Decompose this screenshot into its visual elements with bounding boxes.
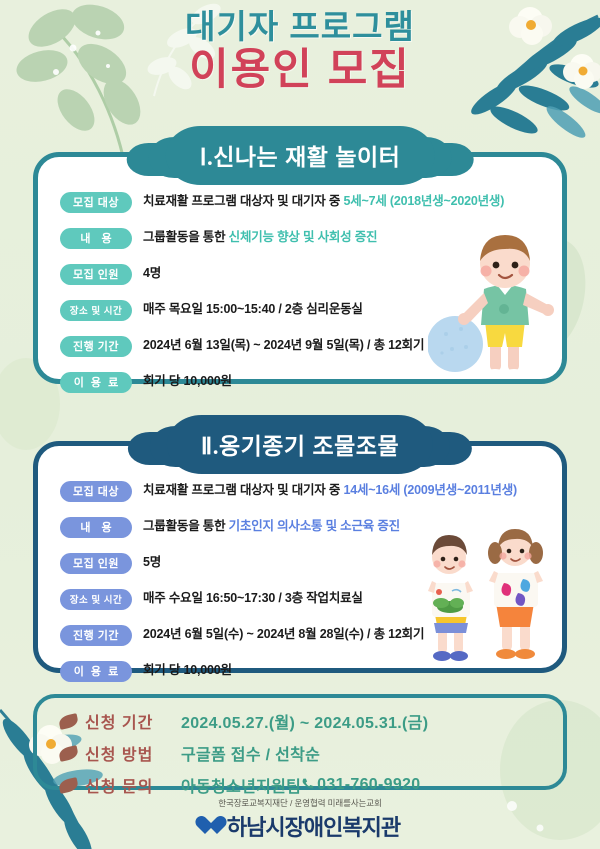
program-2-rows: 모집 대상 치료재활 프로그램 대상자 및 대기자 중 14세~16세 (200… (38, 446, 562, 704)
poster-header: 대기자 프로그램 이용인 모집 (0, 0, 600, 118)
title-line-2: 이용인 모집 (0, 47, 600, 94)
table-row: 장소 및 시간 매주 수요일 16:50~17:30 / 3층 작업치료실 (60, 588, 544, 610)
apply-value: 아동청소년지원팀 (181, 773, 301, 797)
table-row: 이 용 료 회기 당 10,000원 (60, 371, 544, 393)
row-value: 5명 (143, 555, 161, 571)
row-value: 2024년 6월 13일(목) ~ 2024년 9월 5일(목) / 총 12회… (143, 338, 424, 354)
leaf-icon (58, 713, 79, 730)
row-value: 치료재활 프로그램 대상자 및 대기자 중 5세~7세 (2018년생~2020… (143, 194, 504, 210)
table-row: 진행 기간 2024년 6월 13일(목) ~ 2024년 9월 5일(목) /… (60, 335, 544, 357)
application-info-panel: 신청 기간 2024.05.27.(월) ~ 2024.05.31.(금) 신청… (33, 694, 567, 790)
leaf-icon (58, 777, 79, 794)
table-row: 진행 기간 2024년 6월 5일(수) ~ 2024년 8월 28일(수) /… (60, 624, 544, 646)
table-row: 내 용 그룹활동을 통한 기초인지 의사소통 및 소근육 증진 (60, 516, 544, 538)
row-label: 장소 및 시간 (60, 589, 132, 610)
table-row: 내 용 그룹활동을 통한 신체기능 향상 및 사회성 증진 (60, 227, 544, 249)
apply-value: 구글폼 접수 / 선착순 (181, 741, 320, 765)
program-card-1: Ⅰ.신나는 재활 놀이터 (33, 152, 567, 384)
row-label: 모집 인원 (60, 264, 132, 285)
row-value: 그룹활동을 통한 기초인지 의사소통 및 소근육 증진 (143, 519, 400, 535)
organization-name-row: 하남시장애인복지관 (200, 810, 400, 842)
row-value: 회기 당 10,000원 (143, 663, 232, 679)
partner-organizations: 한국장로교복지재단 / 운영협력 미래를사는교회 (0, 797, 600, 809)
title-line-1: 대기자 프로그램 (0, 8, 600, 47)
apply-label: 신청 문의 (85, 773, 181, 797)
phone-icon (301, 777, 314, 790)
apply-row-method: 신청 방법 구글폼 접수 / 선착순 (59, 741, 563, 765)
row-label: 진행 기간 (60, 625, 132, 646)
poster-root: 대기자 프로그램 이용인 모집 Ⅰ.신나는 재활 놀이터 (0, 0, 600, 849)
row-value: 그룹활동을 통한 신체기능 향상 및 사회성 증진 (143, 230, 377, 246)
program-1-rows: 모집 대상 치료재활 프로그램 대상자 및 대기자 중 5세~7세 (2018년… (38, 157, 562, 415)
row-label: 내 용 (60, 517, 132, 538)
table-row: 모집 인원 4명 (60, 263, 544, 285)
row-label: 이 용 료 (60, 661, 132, 682)
row-value: 치료재활 프로그램 대상자 및 대기자 중 14세~16세 (2009년생~20… (143, 483, 517, 499)
heart-icon (200, 816, 222, 836)
table-row: 모집 대상 치료재활 프로그램 대상자 및 대기자 중 14세~16세 (200… (60, 480, 544, 502)
apply-label: 신청 기간 (85, 709, 181, 733)
table-row: 모집 인원 5명 (60, 552, 544, 574)
organization-name: 하남시장애인복지관 (227, 810, 400, 842)
table-row: 이 용 료 회기 당 10,000원 (60, 660, 544, 682)
row-label: 장소 및 시간 (60, 300, 132, 321)
row-value: 4명 (143, 266, 161, 282)
row-label: 이 용 료 (60, 372, 132, 393)
row-label: 모집 대상 (60, 192, 132, 213)
row-value: 매주 수요일 16:50~17:30 / 3층 작업치료실 (143, 591, 363, 607)
apply-value: 2024.05.27.(월) ~ 2024.05.31.(금) (181, 709, 428, 733)
apply-label: 신청 방법 (85, 741, 181, 765)
row-value: 2024년 6월 5일(수) ~ 2024년 8월 28일(수) / 총 12회… (143, 627, 424, 643)
phone-number[interactable]: 031-760-9920 (301, 776, 420, 794)
table-row: 모집 대상 치료재활 프로그램 대상자 및 대기자 중 5세~7세 (2018년… (60, 191, 544, 213)
row-label: 모집 인원 (60, 553, 132, 574)
leaf-icon (58, 745, 79, 762)
row-value: 회기 당 10,000원 (143, 374, 232, 390)
row-label: 진행 기간 (60, 336, 132, 357)
apply-row-contact: 신청 문의 아동청소년지원팀 031-760-9920 (59, 773, 563, 797)
table-row: 장소 및 시간 매주 목요일 15:00~15:40 / 2층 심리운동실 (60, 299, 544, 321)
row-label: 모집 대상 (60, 481, 132, 502)
program-card-2: Ⅱ.옹기종기 조물조물 (33, 441, 567, 673)
organization-footer: 한국장로교복지재단 / 운영협력 미래를사는교회 하남시장애인복지관 (0, 797, 600, 842)
apply-row-period: 신청 기간 2024.05.27.(월) ~ 2024.05.31.(금) (59, 709, 563, 733)
row-value: 매주 목요일 15:00~15:40 / 2층 심리운동실 (143, 302, 363, 318)
row-label: 내 용 (60, 228, 132, 249)
